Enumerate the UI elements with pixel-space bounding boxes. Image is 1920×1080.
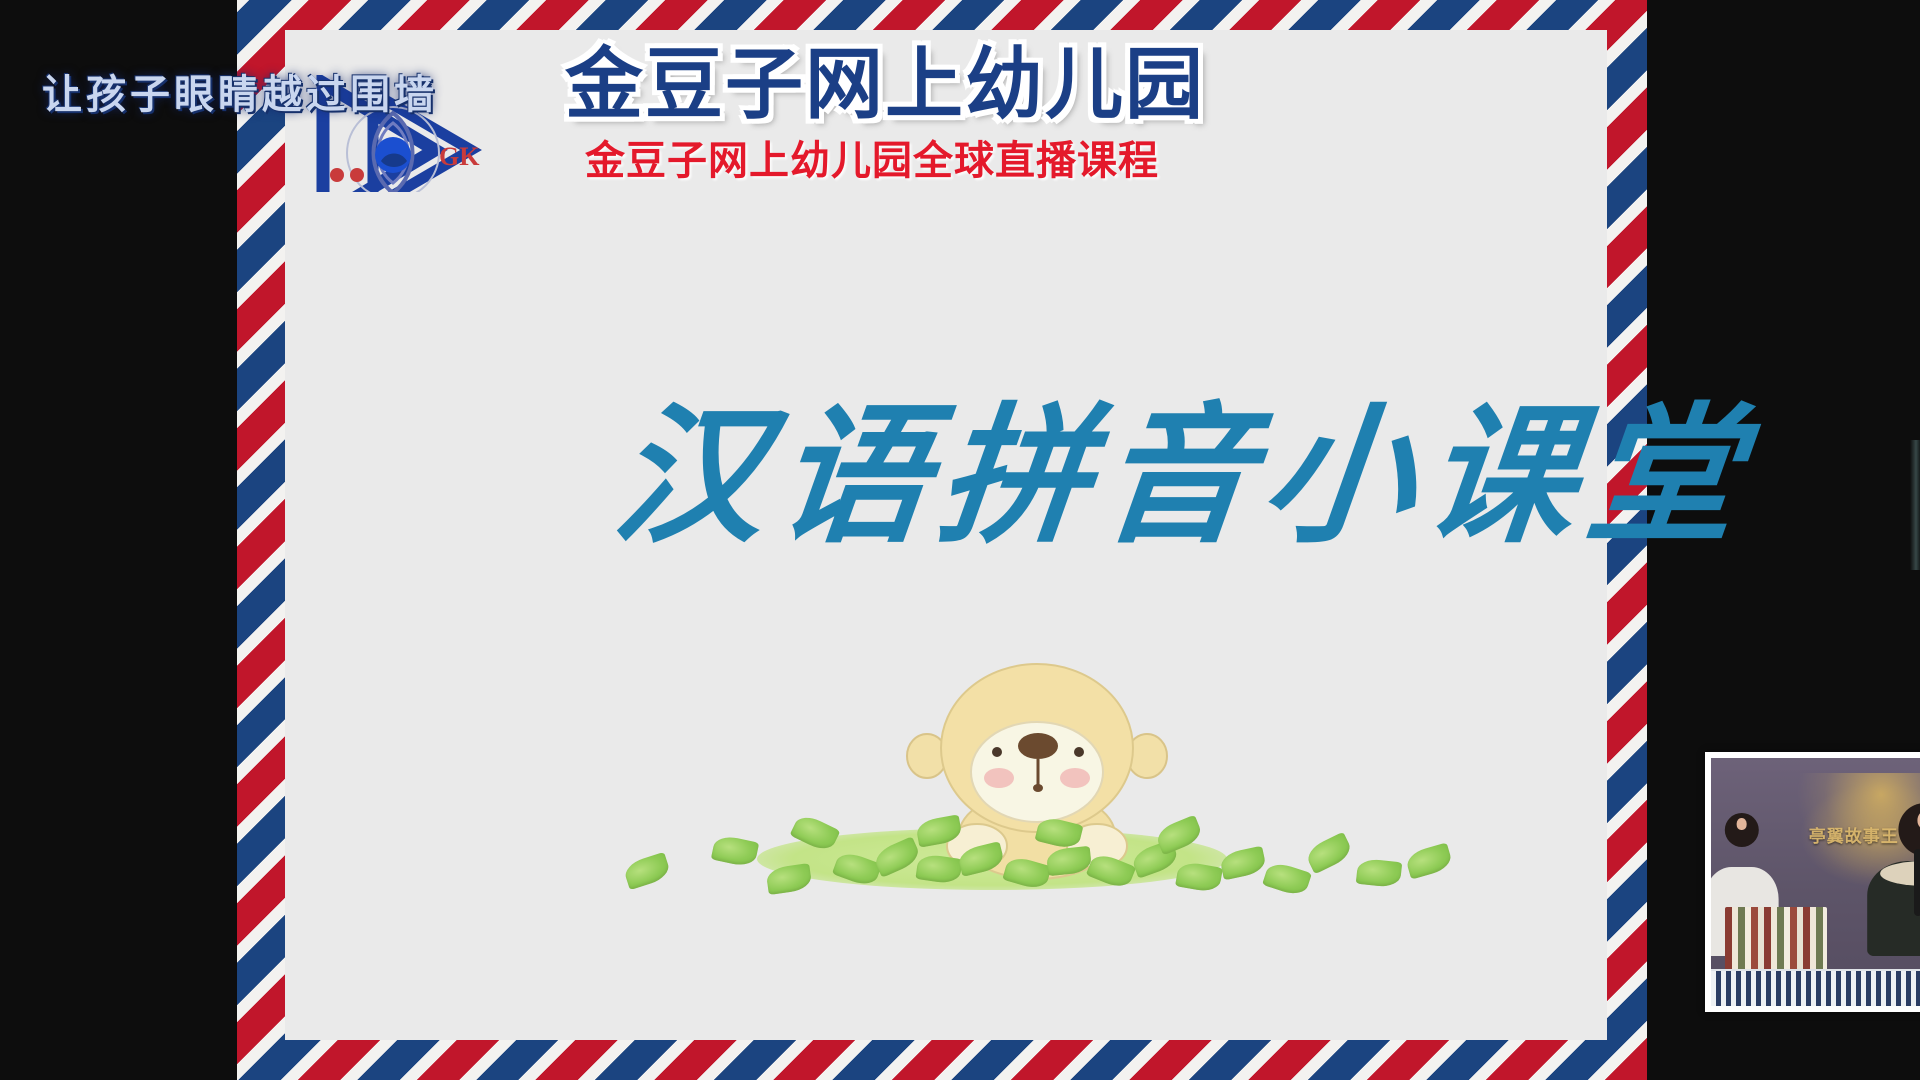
slide-header: GK 金豆子网上幼儿园 金豆子网上幼儿园全球直播课程 (285, 30, 1607, 192)
logo-mark-text: GK (439, 142, 480, 171)
video-player-surface[interactable]: GK 金豆子网上幼儿园 金豆子网上幼儿园全球直播课程 汉语拼音小课堂 (237, 0, 1920, 1080)
leaf (711, 834, 759, 869)
lesson-title: 汉语拼音小课堂 (606, 355, 1763, 572)
co-host-face (1736, 818, 1746, 830)
tagline-overlay: 让孩子眼睛越过围墙 (42, 62, 438, 120)
book-stack (1725, 907, 1827, 971)
leaf (1304, 832, 1355, 875)
striped-tablecloth (1711, 969, 1920, 1006)
leaf (1404, 842, 1453, 879)
screen-root: GK 金豆子网上幼儿园 金豆子网上幼儿园全球直播课程 汉语拼音小课堂 (0, 0, 1920, 1080)
bear-illustration (617, 660, 1517, 940)
leaf (1219, 846, 1267, 881)
scrollbar-artifact[interactable] (1910, 440, 1920, 570)
microphone-icon (1914, 849, 1920, 917)
host-head (1899, 803, 1920, 856)
leaf (1262, 860, 1312, 898)
page-title: 金豆子网上幼儿园 (565, 30, 1205, 134)
page-subtitle: 金豆子网上幼儿园全球直播课程 (585, 128, 1159, 186)
camera-feed: 亭翼故事王 (1711, 758, 1920, 1006)
leaf (622, 852, 672, 890)
co-host-head (1724, 813, 1758, 847)
leaf (1356, 858, 1402, 888)
host-person (1867, 803, 1920, 957)
presenter-camera-inset[interactable]: 亭翼故事王 (1705, 752, 1920, 1012)
host-body (1867, 861, 1920, 956)
